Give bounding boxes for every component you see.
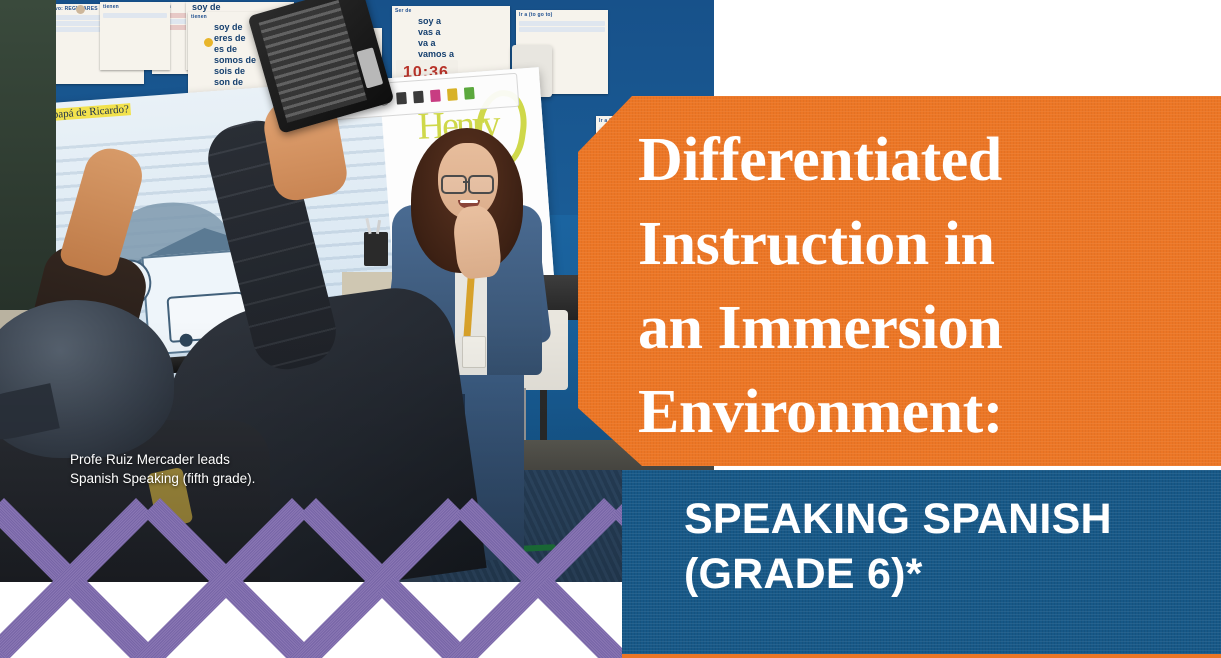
pen-holder [364, 232, 388, 266]
tablet-screen [259, 0, 367, 123]
eyeglasses-bridge [463, 181, 470, 183]
eyeglasses-right-lens [468, 175, 494, 194]
eyeglasses-left-lens [441, 175, 467, 194]
verb-poster-heading: Ir a (to go to) [516, 10, 608, 20]
verb-poster-word: va a [392, 38, 510, 49]
marker-pink-icon[interactable] [430, 89, 441, 102]
pen-black-icon[interactable] [413, 91, 424, 104]
verb-poster-heading: Ser de [392, 6, 510, 16]
poster-dot-yellow [204, 38, 213, 47]
marker-black-icon[interactable] [396, 92, 407, 105]
verb-poster-word: soy a [392, 16, 510, 27]
marker-yellow-icon[interactable] [447, 88, 458, 101]
page-title: Differentiated Instruction in an Immersi… [638, 118, 1198, 454]
verb-poster-word: vas a [392, 27, 510, 38]
photo-caption: Profe Ruiz Mercader leads Spanish Speaki… [70, 450, 255, 488]
chevron-pattern [0, 498, 622, 658]
verb-poster-word: vamos a [392, 49, 510, 60]
title-block: Differentiated Instruction in an Immersi… [578, 96, 1221, 466]
subtitle-block: SPEAKING SPANISH (GRADE 6)* [622, 470, 1221, 654]
teacher-id-badge [462, 336, 486, 368]
marker-green-icon[interactable] [464, 87, 475, 100]
page-subtitle: SPEAKING SPANISH (GRADE 6)* [684, 492, 1204, 602]
poster: Presente progresivo: REGULARES tienen [0, 0, 1221, 658]
bottom-accent-rule [622, 654, 1221, 658]
poster-dot-tan [76, 5, 85, 14]
